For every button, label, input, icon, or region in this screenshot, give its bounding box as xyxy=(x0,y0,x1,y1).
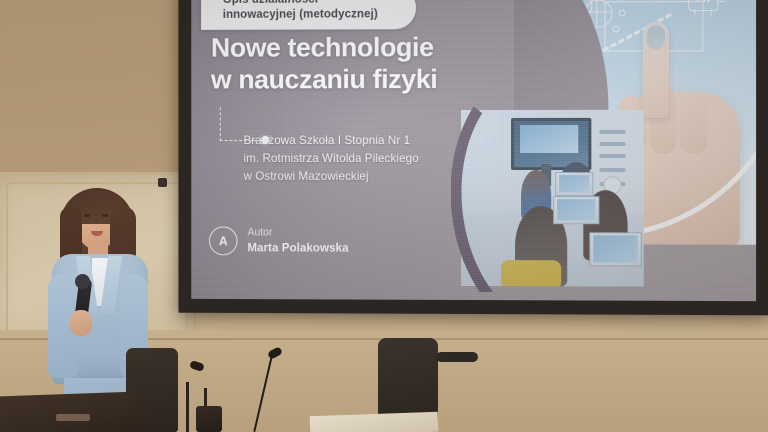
chair-armrest xyxy=(436,352,478,362)
desk-equipment-block xyxy=(196,406,222,432)
slide-title: Nowe technologie w nauczaniu fizyki xyxy=(211,32,509,96)
laptop-logo xyxy=(56,414,90,421)
author-avatar-icon: A xyxy=(209,226,238,255)
author-name: Marta Polakowska xyxy=(247,240,348,255)
slide-school-name: Branżowa Szkoła I Stopnia Nr 1 im. Rotmi… xyxy=(243,132,490,186)
author-label: Autor xyxy=(247,227,348,241)
slide-author-block: A Autor Marta Polakowska xyxy=(209,226,349,255)
gooseneck-microphone xyxy=(186,382,189,432)
presenter-hand xyxy=(70,310,92,336)
screen-display-area: AI xyxy=(191,0,756,301)
photo-scene: AI xyxy=(0,0,768,432)
slide-category-badge: Opis działalności innowacyjnej (metodycz… xyxy=(201,0,416,30)
laptop xyxy=(0,392,139,432)
presentation-screen[interactable]: AI xyxy=(178,0,768,315)
slide: AI xyxy=(191,0,756,301)
papers-on-desk xyxy=(310,412,439,432)
